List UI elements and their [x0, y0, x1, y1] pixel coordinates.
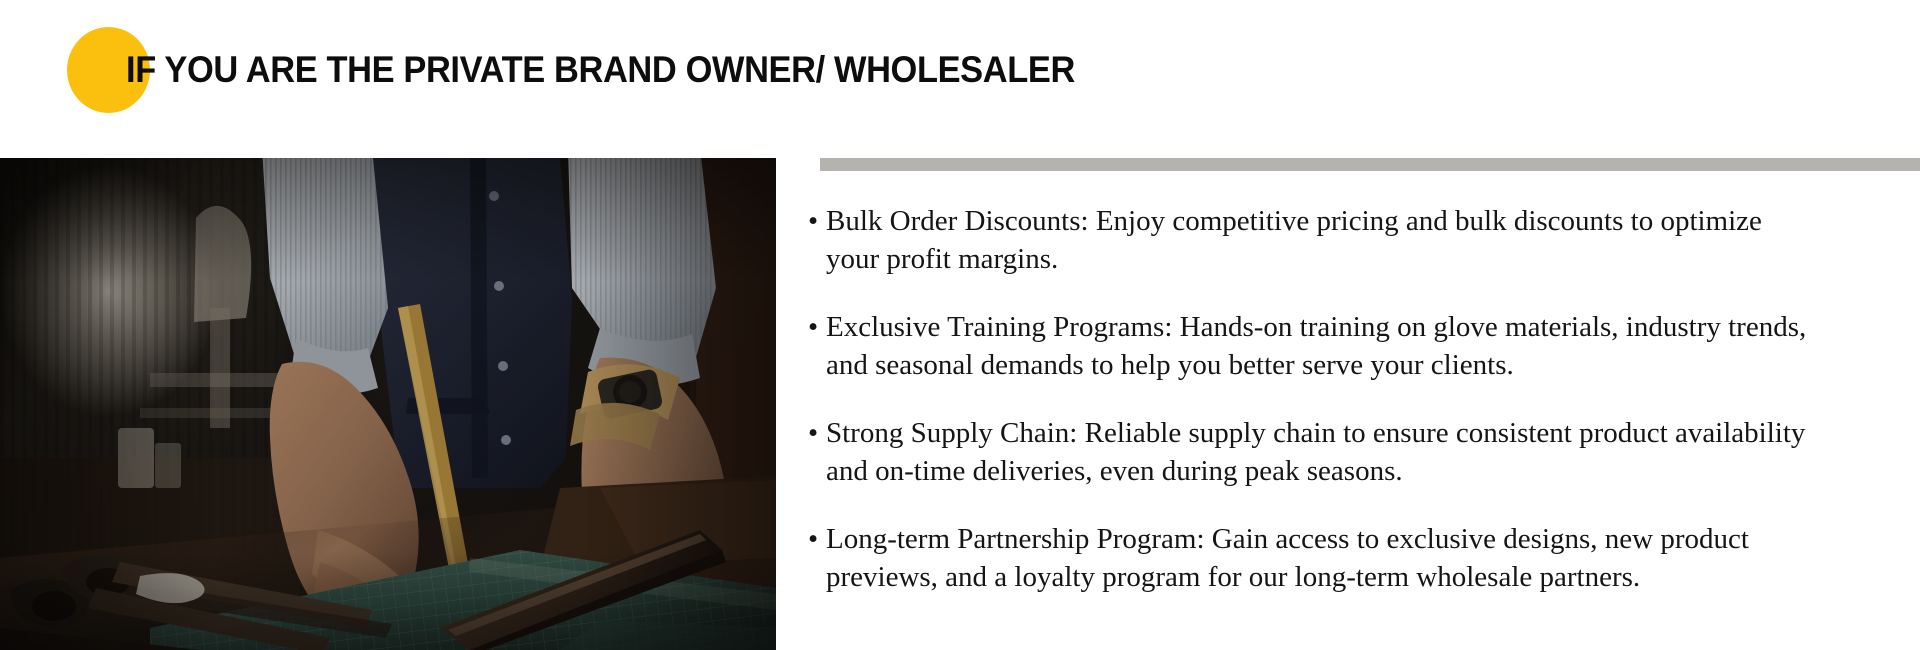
bullet-marker-icon: •: [808, 308, 826, 346]
bullet-marker-icon: •: [808, 520, 826, 558]
bullet-text: Bulk Order Discounts: Enjoy competitive …: [826, 205, 1762, 237]
slide-header: IF YOU ARE THE PRIVATE BRAND OWNER/ WHOL…: [0, 0, 1920, 158]
bullet-text: previews, and a loyalty program for our …: [826, 561, 1640, 593]
bullet-line: •Long-term Partnership Program: Gain acc…: [808, 520, 1898, 558]
bullet-line: •Exclusive Training Programs: Hands-on t…: [808, 308, 1898, 346]
list-item: •Strong Supply Chain: Reliable supply ch…: [808, 414, 1898, 490]
bullet-line: and on-time deliveries, even during peak…: [808, 452, 1898, 490]
benefits-list: •Bulk Order Discounts: Enjoy competitive…: [808, 202, 1898, 596]
bullet-marker-icon: •: [808, 414, 826, 452]
bullet-line: and seasonal demands to help you better …: [808, 346, 1898, 384]
bullet-line: previews, and a loyalty program for our …: [808, 558, 1898, 596]
bullet-text: Exclusive Training Programs: Hands-on tr…: [826, 311, 1806, 343]
bullet-text: Strong Supply Chain: Reliable supply cha…: [826, 417, 1805, 449]
list-item: •Long-term Partnership Program: Gain acc…: [808, 520, 1898, 596]
page-title: IF YOU ARE THE PRIVATE BRAND OWNER/ WHOL…: [126, 48, 1075, 92]
accent-bar: [820, 158, 1920, 171]
bullet-text: your profit margins.: [826, 243, 1058, 275]
bullet-text: Long-term Partnership Program: Gain acce…: [826, 523, 1749, 555]
list-item: •Bulk Order Discounts: Enjoy competitive…: [808, 202, 1898, 278]
bullet-text: and on-time deliveries, even during peak…: [826, 455, 1403, 487]
bullet-marker-icon: •: [808, 202, 826, 240]
bullet-line: •Strong Supply Chain: Reliable supply ch…: [808, 414, 1898, 452]
slide-canvas: IF YOU ARE THE PRIVATE BRAND OWNER/ WHOL…: [0, 0, 1920, 650]
bullet-text: and seasonal demands to help you better …: [826, 349, 1514, 381]
bullet-line: your profit margins.: [808, 240, 1898, 278]
bullet-line: •Bulk Order Discounts: Enjoy competitive…: [808, 202, 1898, 240]
list-item: •Exclusive Training Programs: Hands-on t…: [808, 308, 1898, 384]
craftsman-photo: [0, 158, 776, 650]
craftsman-photo-illustration: [0, 158, 776, 650]
benefits-panel: •Bulk Order Discounts: Enjoy competitive…: [776, 158, 1920, 650]
